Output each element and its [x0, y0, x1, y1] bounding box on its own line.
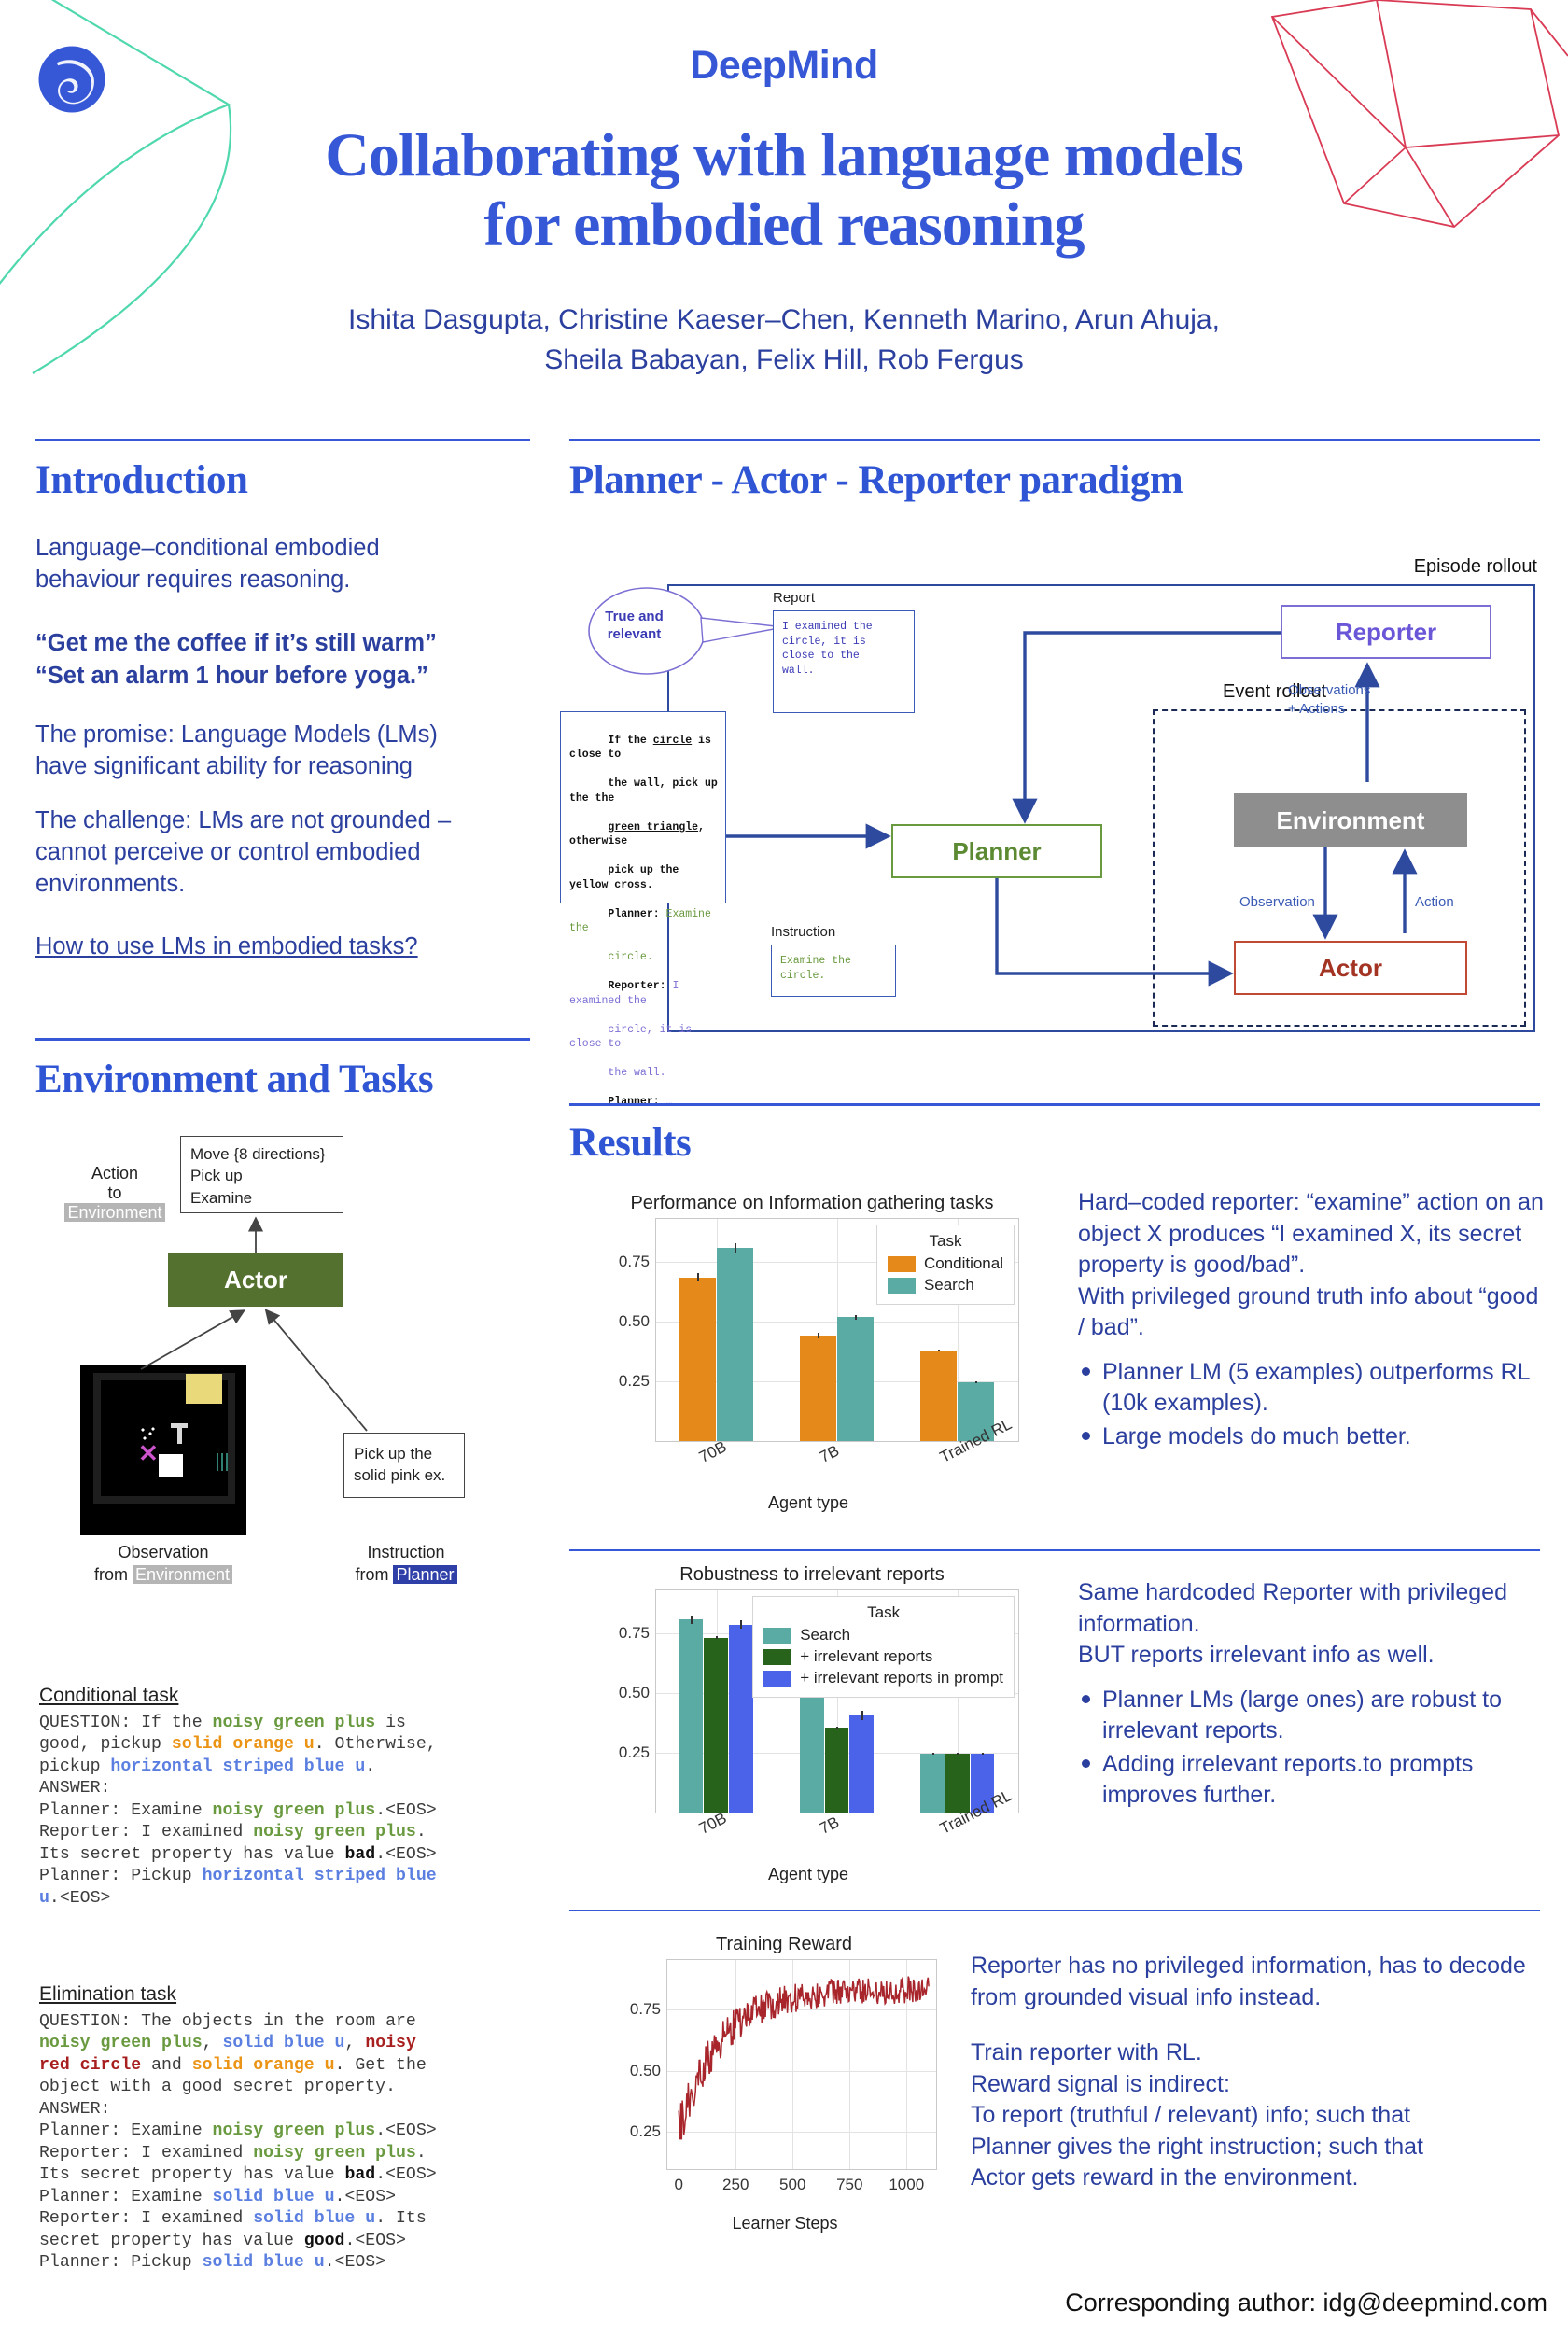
transcript-l9: the wall. [608, 1067, 665, 1079]
chart1-xlabel: Agent type [622, 1493, 995, 1513]
observation-caption: Observation from Environment [80, 1541, 246, 1587]
error-bar [836, 1727, 838, 1729]
chart2-title: Robustness to irrelevant reports [588, 1564, 1036, 1586]
legend-item: Search [763, 1626, 1003, 1645]
task-line: good, pickup solid orange u. Otherwise, [39, 1734, 534, 1756]
task-line: pickup horizontal striped blue u. [39, 1757, 534, 1778]
y-tick-label: 0.25 [619, 1743, 650, 1762]
task-line: ANSWER: [39, 1778, 534, 1799]
bar [679, 1278, 716, 1441]
results-block-3-paragraph-2: Train reporter with RL. Reward signal is… [971, 2037, 1549, 2194]
legend-swatch [888, 1278, 916, 1294]
error-bar [932, 1753, 934, 1755]
task-line: object with a good secret property. [39, 2077, 534, 2098]
legend-swatch [763, 1671, 791, 1687]
task-line: noisy green plus, solid blue u, noisy [39, 2033, 534, 2054]
environment-arrows [35, 1134, 530, 1601]
y-tick-label: 0.75 [630, 2000, 661, 2019]
error-bar [697, 1273, 699, 1281]
corresponding-author: Corresponding author: idg@deepmind.com [1065, 2289, 1547, 2317]
task-line: QUESTION: The objects in the room are [39, 2011, 534, 2033]
legend-swatch [888, 1256, 916, 1272]
results-bullet: Adding irrelevant reports.to prompts imp… [1078, 1749, 1545, 1812]
bar [679, 1619, 704, 1813]
results-bullet: Planner LM (5 examples) outperforms RL (… [1078, 1357, 1545, 1420]
chart1-title: Performance on Information gathering tas… [588, 1193, 1036, 1214]
chart3-plot: 0.250.500.7502505007501000 [666, 1959, 937, 2170]
bar [825, 1728, 849, 1813]
results-section-rule [569, 1103, 1540, 1106]
x-tick-label: 70B [696, 1437, 730, 1467]
y-tick-label: 0.50 [630, 2062, 661, 2080]
chart-legend: TaskSearch+ irrelevant reports+ irreleva… [752, 1596, 1015, 1698]
chart1-plot: 0.250.500.7570B7BTrained RLTaskCondition… [655, 1218, 1019, 1442]
conditional-task-block: Conditional task QUESTION: If the noisy … [39, 1685, 534, 1910]
action-label: Action [1415, 894, 1454, 910]
y-tick-label: 0.25 [619, 1372, 650, 1391]
conditional-task-text: QUESTION: If the noisy green plus isgood… [39, 1713, 534, 1910]
task-line: Reporter: I examined solid blue u. Its [39, 2208, 534, 2230]
task-line: Planner: Examine noisy green plus.<EOS> [39, 2121, 534, 2142]
chart3-title: Training Reward [597, 1934, 971, 1955]
results-block-3: Reporter has no privileged information, … [971, 1951, 1549, 2194]
bar [729, 1625, 753, 1813]
results-divider-1 [569, 1549, 1540, 1551]
legend-swatch [763, 1628, 791, 1644]
results-section-title: Results [569, 1120, 691, 1166]
y-tick-label: 0.50 [619, 1312, 650, 1331]
x-tick-label: 7B [817, 1813, 843, 1839]
legend-label: Search [800, 1626, 850, 1645]
elimination-task-heading: Elimination task [39, 1983, 534, 2006]
results-block-2-paragraph: Same hardcoded Reporter with privileged … [1078, 1577, 1545, 1672]
results-block-1-paragraph: Hard–coded reporter: “examine” action on… [1078, 1187, 1545, 1344]
intro-quote-2: “Set an alarm 1 hour before yoga.” [35, 660, 502, 692]
task-line: u.<EOS> [39, 1888, 534, 1910]
observation-label: Observation [1239, 894, 1315, 910]
conditional-task-heading: Conditional task [39, 1685, 534, 1707]
legend-label: + irrelevant reports in prompt [800, 1669, 1003, 1687]
intro-quote-1: “Get me the coffee if it’s still warm” [35, 627, 502, 659]
training-reward-line [667, 1960, 936, 2169]
chart-legend: TaskConditionalSearch [876, 1225, 1015, 1305]
instruction-source-chip: Planner [393, 1565, 456, 1584]
x-tick-label: 250 [722, 2176, 749, 2194]
results-block-3-paragraph-1: Reporter has no privileged information, … [971, 1951, 1549, 2013]
observation-source-chip: Environment [133, 1565, 232, 1584]
chart2-xlabel: Agent type [622, 1865, 995, 1884]
results-block-1-bullets: Planner LM (5 examples) outperforms RL (… [1078, 1357, 1545, 1453]
instruction-caption-main: Instruction [367, 1543, 444, 1561]
task-line: secret property has value good.<EOS> [39, 2231, 534, 2252]
task-line: Its secret property has value bad.<EOS> [39, 2164, 534, 2186]
paradigm-arrows [569, 551, 1545, 1036]
observations-actions-label: Observations + Actions [1288, 681, 1370, 718]
task-line: Reporter: I examined noisy green plus. [39, 2143, 534, 2164]
transcript-l10b: … [666, 1096, 673, 1108]
error-bar [818, 1333, 819, 1339]
chart-robustness-irrelevant-reports: Robustness to irrelevant reports 0.250.5… [588, 1564, 1036, 1882]
error-bar [740, 1620, 742, 1629]
task-line: Reporter: I examined noisy green plus. [39, 1822, 534, 1843]
observation-caption-main: Observation [118, 1543, 208, 1561]
bar [920, 1351, 957, 1441]
x-tick-label: 500 [779, 2176, 805, 2194]
y-tick-label: 0.75 [619, 1253, 650, 1271]
legend-swatch [763, 1649, 791, 1665]
error-bar [716, 1636, 718, 1639]
legend-title: Task [763, 1603, 1003, 1622]
paradigm-diagram: Episode rollout Event rollout True andre… [569, 551, 1545, 1036]
task-line: Planner: Examine noisy green plus.<EOS> [39, 1800, 534, 1822]
legend-item: + irrelevant reports in prompt [763, 1669, 1003, 1687]
bar [849, 1715, 874, 1813]
task-line: ANSWER: [39, 2099, 534, 2121]
x-tick-label: 1000 [889, 2176, 924, 2194]
elimination-task-text: QUESTION: The objects in the room arenoi… [39, 2011, 534, 2275]
task-line: Planner: Pickup solid blue u.<EOS> [39, 2252, 534, 2274]
environment-diagram: Move {8 directions} Pick up Examine Acti… [35, 1134, 530, 1601]
y-tick-label: 0.50 [619, 1684, 650, 1702]
bar [717, 1248, 753, 1441]
results-bullet: Large models do much better. [1078, 1421, 1545, 1453]
title-line-1: Collaborating with language models [0, 121, 1568, 190]
results-block-2: Same hardcoded Reporter with privileged … [1078, 1577, 1545, 1813]
error-bar [957, 1753, 959, 1755]
error-bar [855, 1315, 857, 1321]
paradigm-section-title: Planner - Actor - Reporter paradigm [569, 457, 1183, 503]
paradigm-section-rule [569, 439, 1540, 441]
instruction-caption-from: from [355, 1565, 393, 1584]
legend-label: Conditional [924, 1254, 1003, 1273]
intro-question: How to use LMs in embodied tasks? [35, 931, 521, 962]
error-bar [982, 1753, 984, 1755]
chart-training-reward: Training Reward 0.250.500.75025050075010… [597, 1934, 971, 2242]
task-line: QUESTION: If the noisy green plus is [39, 1713, 534, 1734]
chart2-plot: 0.250.500.7570B7BTrained RLTaskSearch+ i… [655, 1589, 1019, 1813]
environment-section-title: Environment and Tasks [35, 1057, 433, 1102]
intro-section-title: Introduction [35, 457, 247, 503]
results-block-2-bullets: Planner LMs (large ones) are robust to i… [1078, 1685, 1545, 1812]
error-bar [975, 1381, 977, 1383]
intro-paragraph-2: The promise: Language Models (LMs) have … [35, 719, 465, 782]
error-bar [938, 1350, 940, 1352]
legend-title: Task [888, 1232, 1003, 1251]
results-block-1: Hard–coded reporter: “examine” action on… [1078, 1187, 1545, 1454]
task-line: red circle and solid orange u. Get the [39, 2055, 534, 2077]
error-bar [735, 1243, 736, 1253]
intro-section-rule [35, 439, 530, 441]
y-tick-label: 0.25 [630, 2122, 661, 2141]
authors-line-1: Ishita Dasgupta, Christine Kaeser–Chen, … [0, 301, 1568, 341]
task-line: Planner: Examine solid blue u.<EOS> [39, 2187, 534, 2208]
environment-section-rule [35, 1038, 530, 1041]
elimination-task-block: Elimination task QUESTION: The objects i… [39, 1983, 534, 2275]
bar [800, 1688, 824, 1813]
error-bar [861, 1711, 863, 1719]
authors-line-2: Sheila Babayan, Felix Hill, Rob Fergus [0, 341, 1568, 381]
legend-item: Conditional [888, 1254, 1003, 1273]
task-line: Planner: Pickup horizontal striped blue [39, 1866, 534, 1887]
task-line: Its secret property has value bad.<EOS> [39, 1844, 534, 1866]
y-tick-label: 0.75 [619, 1624, 650, 1643]
title-line-2: for embodied reasoning [0, 190, 1568, 259]
legend-item: Search [888, 1276, 1003, 1295]
observation-caption-from: from [94, 1565, 133, 1584]
intro-paragraph-3: The challenge: LMs are not grounded – ca… [35, 805, 483, 900]
bar [800, 1336, 836, 1441]
instruction-caption: Instruction from Planner [323, 1541, 489, 1587]
chart3-xlabel: Learner Steps [631, 2214, 939, 2233]
legend-label: + irrelevant reports [800, 1647, 932, 1666]
transcript-l10a: Planner: [608, 1096, 665, 1108]
bar [945, 1754, 970, 1813]
legend-label: Search [924, 1276, 974, 1295]
bar [704, 1638, 728, 1813]
error-bar [691, 1616, 693, 1624]
x-tick-label: 7B [817, 1442, 843, 1467]
x-tick-label: 750 [836, 2176, 862, 2194]
bar [920, 1754, 945, 1813]
x-tick-label: 70B [696, 1809, 730, 1839]
deepmind-wordmark: DeepMind [0, 43, 1568, 89]
bar [837, 1317, 874, 1441]
chart-performance-info-gathering: Performance on Information gathering tas… [588, 1193, 1036, 1510]
results-bullet: Planner LMs (large ones) are robust to i… [1078, 1685, 1545, 1747]
page-title: Collaborating with language models for e… [0, 121, 1568, 259]
legend-item: + irrelevant reports [763, 1647, 1003, 1666]
intro-paragraph-1: Language–conditional embodied behaviour … [35, 532, 455, 595]
x-tick-label: 0 [674, 2176, 682, 2194]
results-divider-2 [569, 1910, 1540, 1911]
author-list: Ishita Dasgupta, Christine Kaeser–Chen, … [0, 301, 1568, 380]
